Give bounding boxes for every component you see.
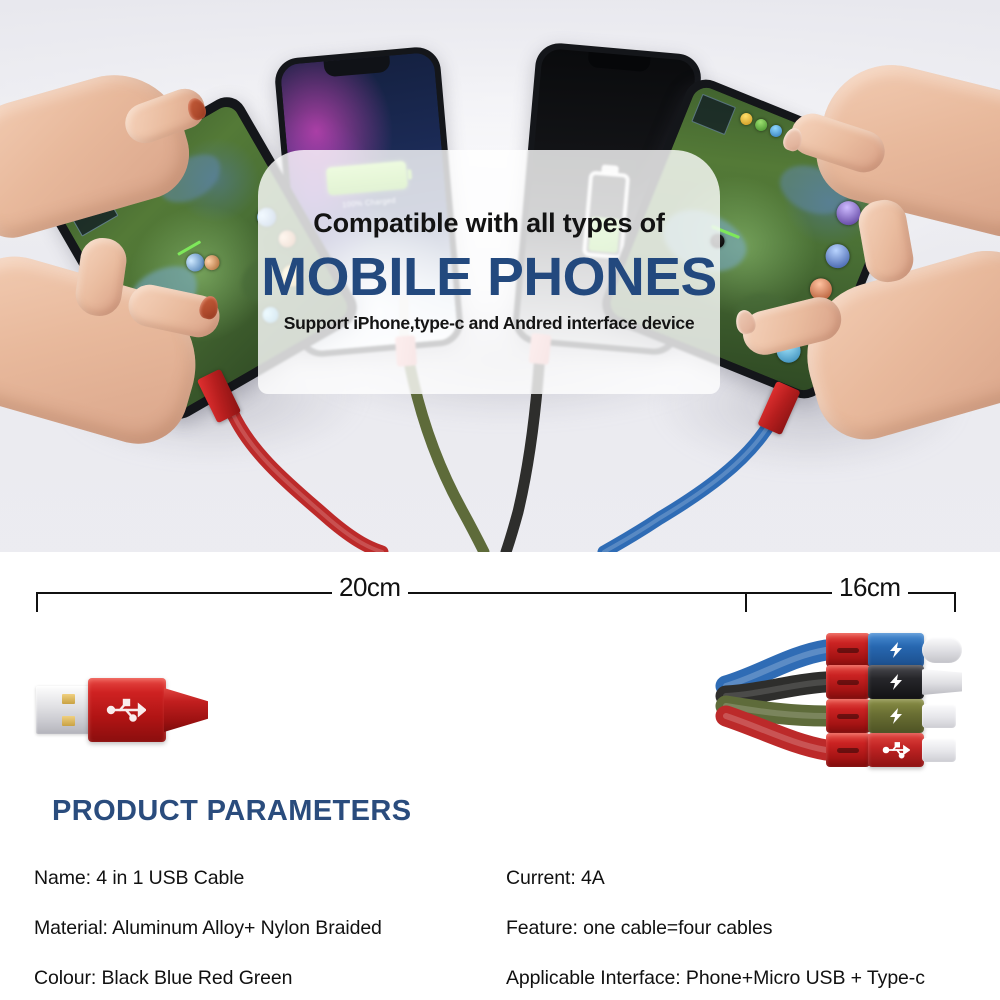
photo-cable-red-highlight <box>232 412 382 552</box>
headline-main-line: MOBILE PHONES <box>253 246 724 308</box>
lightning-red-collar-slot <box>837 748 859 753</box>
dimension-tick-right <box>954 592 956 612</box>
dimension-label-branch: 16cm <box>832 572 908 603</box>
hero-photo: 100% Charged <box>0 0 1000 552</box>
dimension-tick-middle <box>745 592 747 612</box>
usb-trident-icon <box>106 696 146 724</box>
photo-cable-red <box>232 412 382 552</box>
dimension-label-main: 20cm <box>332 572 408 603</box>
lightning-bolt-icon <box>886 706 906 726</box>
headline-top-line: Compatible with all types of <box>258 208 720 239</box>
lightning-red-tip <box>922 738 956 762</box>
usb-a-contact <box>62 694 75 704</box>
micro-usb-tip <box>922 669 962 695</box>
product-listing-image: 100% Charged <box>0 0 1000 1000</box>
dimension-diagram: 20cm 16cm <box>0 570 1000 616</box>
product-parameters-section: PRODUCT PARAMETERS Name: 4 in 1 USB Cabl… <box>0 795 1000 1000</box>
lightning-green-tip <box>922 704 956 728</box>
param-material: Material: Aluminum Alloy+ Nylon Braided <box>34 917 382 940</box>
micro-usb-collar-slot <box>837 680 859 685</box>
headline-text-group: Compatible with all types of MOBILE PHON… <box>258 150 720 394</box>
dimension-tick-left <box>36 592 38 612</box>
lightning-bolt-icon <box>886 640 906 660</box>
type-c-tip <box>922 637 962 663</box>
usb-a-contact <box>62 716 75 726</box>
photo-cable-blue <box>604 420 772 552</box>
cable-product-diagram <box>0 612 1000 802</box>
param-name: Name: 4 in 1 USB Cable <box>34 867 244 890</box>
param-current: Current: 4A <box>506 867 605 890</box>
type-c-collar-slot <box>837 648 859 653</box>
lightning-green-collar-slot <box>837 714 859 719</box>
usb-a-tongue <box>36 686 92 734</box>
headline-sub-line: Support iPhone,type-c and Andred interfa… <box>258 313 720 334</box>
param-colour: Colour: Black Blue Red Green <box>34 967 292 990</box>
usb-trident-icon <box>882 740 910 760</box>
param-applicable-interface: Applicable Interface: Phone+Micro USB + … <box>506 967 925 990</box>
product-parameters-title: PRODUCT PARAMETERS <box>52 795 412 828</box>
param-feature: Feature: one cable=four cables <box>506 917 772 940</box>
lightning-bolt-icon <box>886 672 906 692</box>
